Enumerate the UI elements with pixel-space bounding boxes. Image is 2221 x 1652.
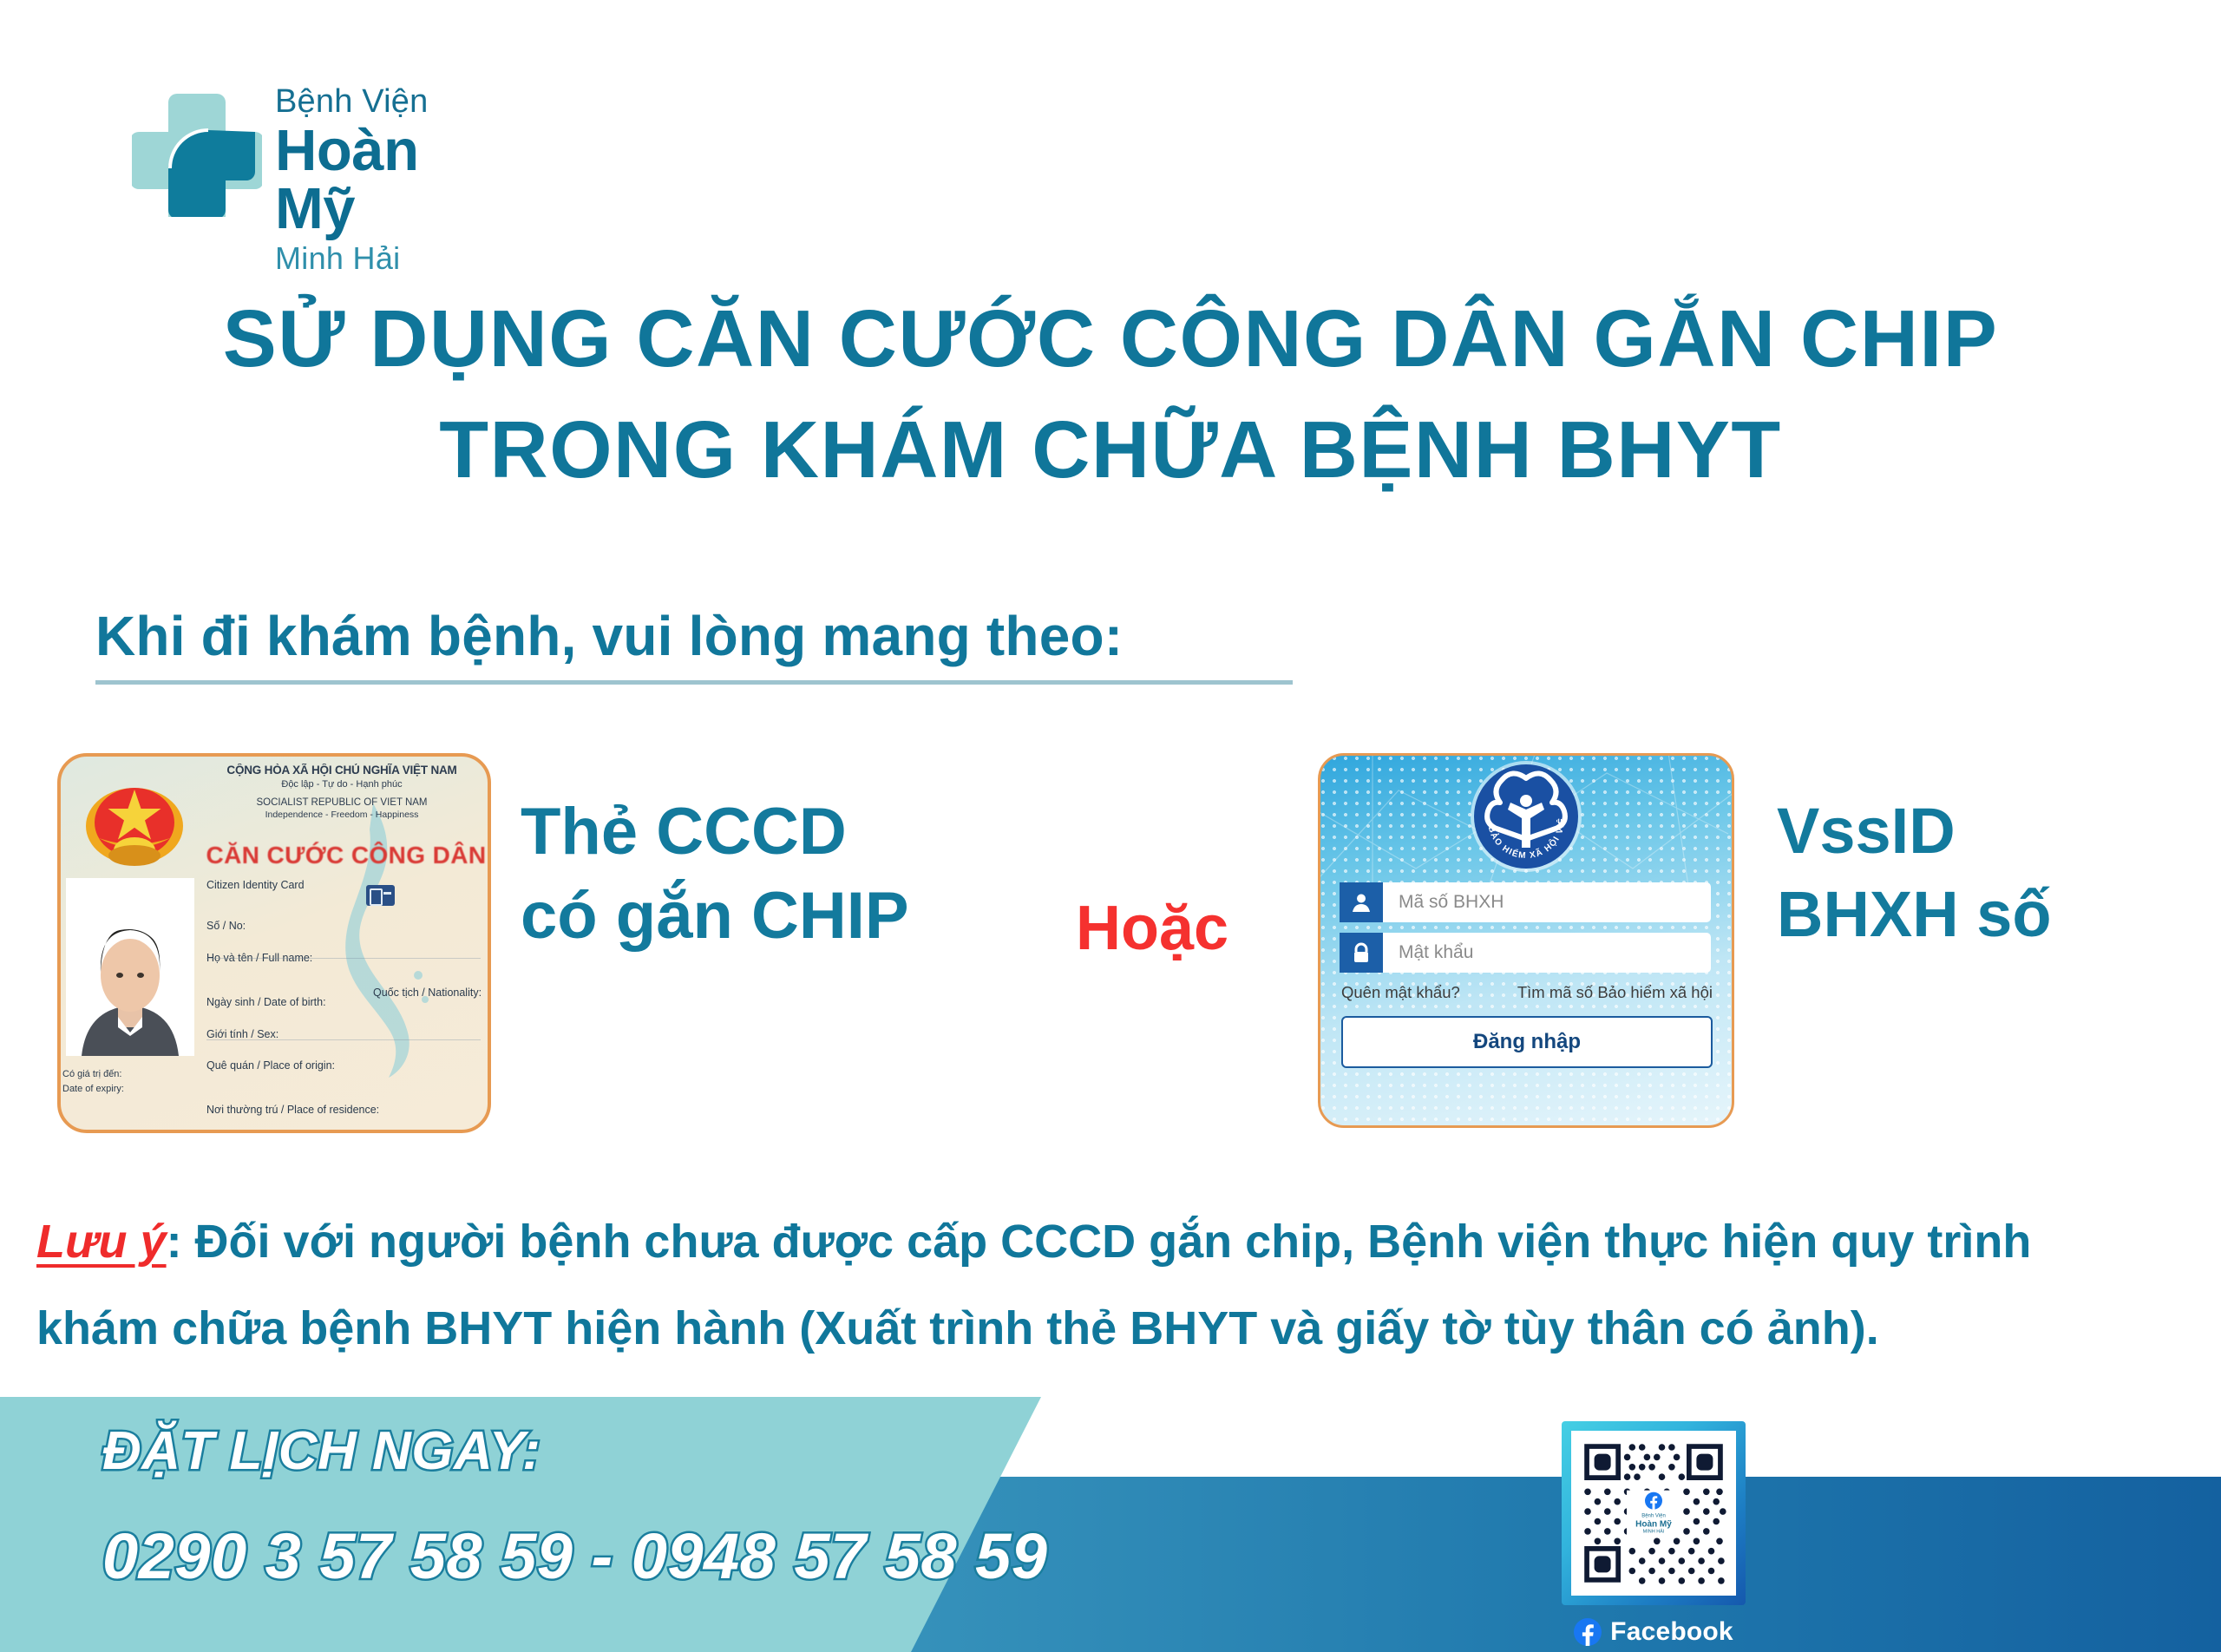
qr-center-logo: Bệnh Viện Hoàn Mỹ MINH HẢI [1627, 1491, 1680, 1537]
cccd-field-number: Số / No: [206, 919, 484, 934]
cccd-expiry-block: Có giá trị đến: Date of expiry: [62, 1067, 193, 1096]
password-field[interactable]: Mật khẩu [1340, 933, 1711, 973]
cccd-country-en: SOCIALIST REPUBLIC OF VIET NAM [203, 796, 481, 810]
qr-code-block[interactable]: Bệnh Viện Hoàn Mỹ MINH HẢI Facebook [1562, 1421, 1746, 1647]
option-left-label-line1: Thẻ CCCD [521, 790, 937, 874]
cccd-country-vn: CỘNG HÒA XÃ HỘI CHỦ NGHĨA VIỆT NAM [203, 764, 481, 778]
note-flag-label: Lưu ý [36, 1216, 167, 1268]
login-button[interactable]: Đăng nhập [1341, 1016, 1713, 1068]
bhxh-logo-icon: BẢO HIỂM XÃ HỘI VIỆT NAM [1469, 759, 1583, 874]
note-line-2: khám chữa bệnh BHYT hiện hành (Xuất trìn… [36, 1286, 2197, 1373]
cccd-field-nationality: Quốc tịch / Nationality: [373, 986, 482, 1000]
qr-badge-line2: Hoàn Mỹ [1627, 1519, 1680, 1529]
option-separator-label: Hoặc [1076, 897, 1228, 960]
option-right-label-line2: BHXH số [1777, 873, 2185, 956]
note-line-1-rest: : Đối với người bệnh chưa được cấp CCCD … [167, 1216, 2032, 1268]
qr-badge-line3: MINH HẢI [1627, 1529, 1680, 1534]
vssid-app-screenshot: BẢO HIỂM XÃ HỘI VIỆT NAM Mã số BHXH [1318, 753, 1734, 1128]
cccd-field-origin: Quê quán / Place of origin: [206, 1059, 484, 1073]
cccd-field-residence: Nơi thường trú / Place of residence: [206, 1103, 484, 1118]
password-input[interactable]: Mật khẩu [1383, 933, 1711, 973]
footer: ĐẶT LỊCH NGAY: 0290 3 57 58 59 - 0948 57… [0, 1397, 2221, 1652]
bhxh-code-input[interactable]: Mã số BHXH [1383, 882, 1711, 922]
user-icon [1340, 882, 1383, 922]
logo-line-sub: Minh Hải [275, 241, 501, 276]
facebook-icon [1645, 1492, 1662, 1510]
facebook-label-text: Facebook [1610, 1617, 1733, 1647]
cccd-card-title: CĂN CƯỚC CÔNG DÂN [203, 842, 489, 869]
poster-root: Bệnh Viện Hoàn Mỹ Minh Hải SỬ DỤNG CĂN C… [0, 0, 2221, 1652]
cccd-header-texts: CỘNG HÒA XÃ HỘI CHỦ NGHĨA VIỆT NAM Độc l… [203, 764, 481, 822]
title-line-2: TRONG KHÁM CHỮA BỆNH BHYT [0, 394, 2221, 505]
forgot-password-link[interactable]: Quên mật khẩu? [1341, 983, 1460, 1002]
footer-contact-block: ĐẶT LỊCH NGAY: 0290 3 57 58 59 - 0948 57… [102, 1419, 1126, 1596]
id-photo [66, 878, 194, 1056]
option-right-label-line1: VssID [1777, 790, 2185, 873]
vssid-helper-links: Quên mật khẩu? Tìm mã số Bảo hiểm xã hội [1341, 983, 1713, 1002]
medical-cross-logo-icon [132, 87, 262, 217]
options-row: CỘNG HÒA XÃ HỘI CHỦ NGHĨA VIỆT NAM Độc l… [0, 748, 2221, 1147]
hospital-logo: Bệnh Viện Hoàn Mỹ Minh Hải [132, 83, 496, 222]
vietnam-emblem-icon [80, 764, 189, 873]
logo-wordmark: Bệnh Viện Hoàn Mỹ Minh Hải [275, 85, 501, 275]
qr-code-frame: Bệnh Viện Hoàn Mỹ MINH HẢI [1562, 1421, 1746, 1605]
phone-numbers: 0290 3 57 58 59 - 0948 57 58 59 [102, 1518, 1126, 1596]
option-left-label-line2: có gắn CHIP [521, 874, 937, 958]
title-line-1: SỬ DỤNG CĂN CƯỚC CÔNG DÂN GẮN CHIP [0, 283, 2221, 394]
logo-line-main: Hoàn Mỹ [275, 121, 501, 238]
qr-code-image: Bệnh Viện Hoàn Mỹ MINH HẢI [1571, 1431, 1736, 1596]
cccd-subtitle-en: Citizen Identity Card [206, 878, 484, 893]
subtitle-divider [95, 680, 1293, 685]
subtitle-text: Khi đi khám bệnh, vui lòng mang theo: [95, 606, 1310, 666]
booking-cta-label: ĐẶT LỊCH NGAY: [102, 1419, 1126, 1484]
find-bhxh-code-link[interactable]: Tìm mã số Bảo hiểm xã hội [1517, 983, 1713, 1002]
option-right-label: VssID BHXH số [1777, 790, 2185, 956]
lock-icon [1340, 933, 1383, 973]
cccd-expiry-en: Date of expiry: [62, 1082, 193, 1097]
logo-line-top: Bệnh Viện [275, 85, 501, 120]
facebook-label[interactable]: Facebook [1562, 1617, 1746, 1647]
cccd-motto-en: Independence - Freedom - Happiness [203, 810, 481, 822]
page-title: SỬ DỤNG CĂN CƯỚC CÔNG DÂN GẮN CHIP TRONG… [0, 283, 2221, 506]
bhxh-code-field[interactable]: Mã số BHXH [1340, 882, 1711, 922]
cccd-expiry-vn: Có giá trị đến: [62, 1067, 193, 1082]
note-block: Lưu ý: Đối với người bệnh chưa được cấp … [36, 1199, 2197, 1373]
note-line-1: Lưu ý: Đối với người bệnh chưa được cấp … [36, 1199, 2197, 1286]
facebook-icon [1574, 1618, 1602, 1646]
cccd-card-image: CỘNG HÒA XÃ HỘI CHỦ NGHĨA VIỆT NAM Độc l… [57, 753, 491, 1133]
cccd-motto-vn: Độc lập - Tự do - Hạnh phúc [203, 778, 481, 790]
option-left-label: Thẻ CCCD có gắn CHIP [521, 790, 937, 959]
subtitle-block: Khi đi khám bệnh, vui lòng mang theo: [95, 606, 1310, 685]
